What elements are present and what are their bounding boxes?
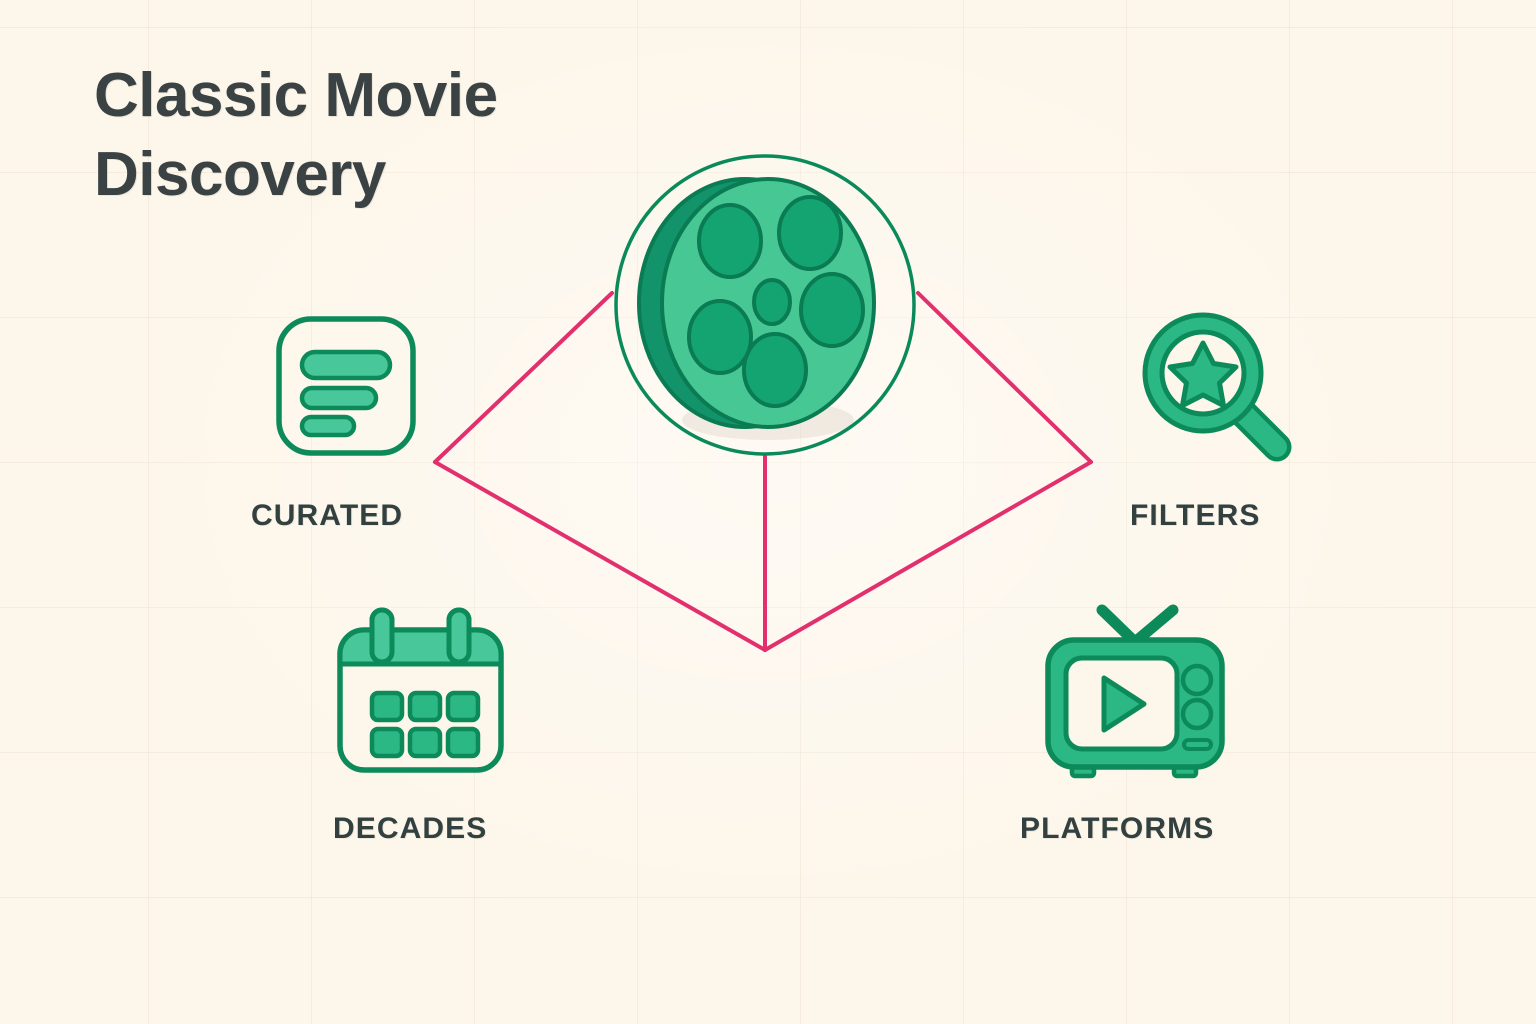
tv-knob-top [1183,666,1211,694]
node-label-platforms: PLATFORMS [1020,812,1214,846]
tv-slot [1184,740,1211,749]
connector-filters [918,293,1091,462]
calendar-header-band [340,630,501,664]
film-reel-icon[interactable] [612,152,918,458]
list-bar-2 [302,388,376,408]
magnifier-star-icon[interactable] [1135,305,1300,475]
connector-curated [435,293,612,462]
retro-tv-play-icon[interactable] [1040,600,1230,790]
node-label-curated: CURATED [251,499,403,533]
diagram-canvas: Classic Movie Discovery [0,0,1536,1024]
tv-antenna-left [1102,610,1135,642]
list-lines-icon[interactable] [272,312,420,465]
calendar-icon[interactable] [330,602,510,787]
list-bar-3 [302,417,354,435]
node-label-decades: DECADES [333,812,487,846]
reel-center-hub [754,280,790,324]
page-title-line1: Classic Movie [94,61,498,130]
tv-knob-bottom [1183,700,1211,728]
tv-antenna-right [1135,610,1173,642]
node-label-filters: FILTERS [1130,499,1260,533]
list-bar-1 [302,352,390,378]
